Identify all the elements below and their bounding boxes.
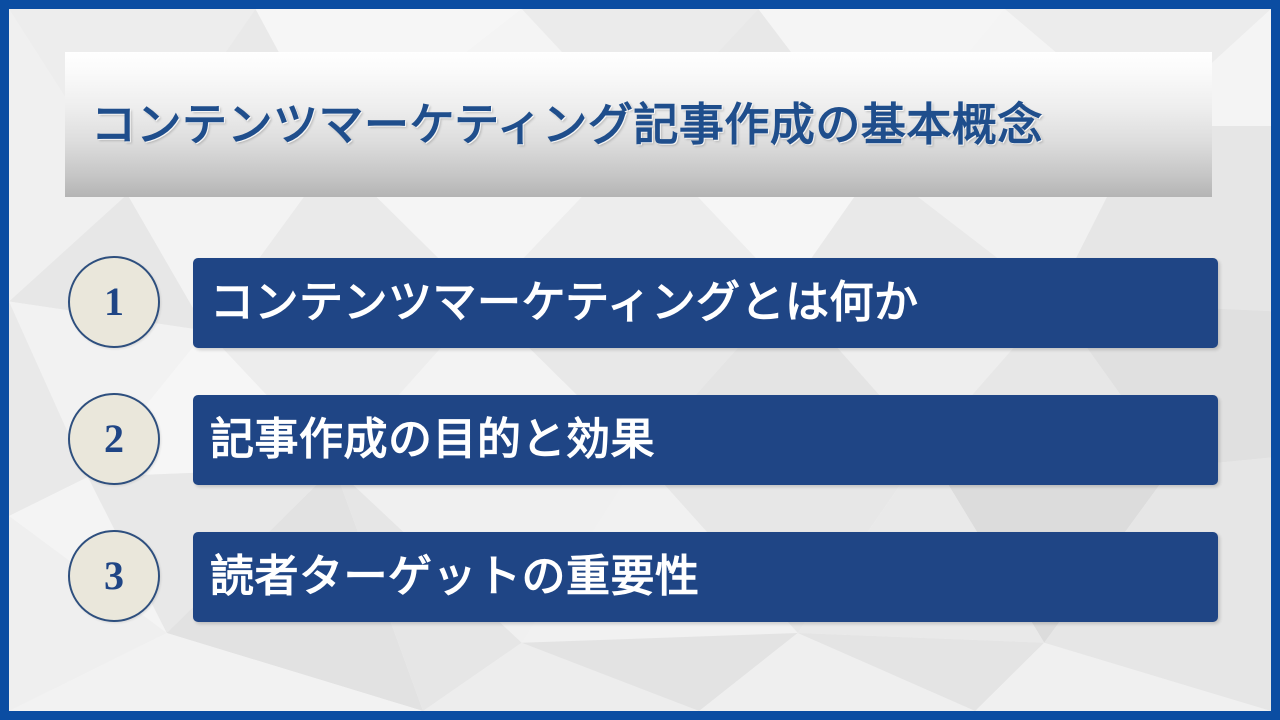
list-item[interactable]: 1 コンテンツマーケティングとは何か [9, 258, 1271, 348]
item-number-badge: 2 [68, 393, 160, 485]
item-label: 記事作成の目的と効果 [210, 417, 655, 463]
title-banner: コンテンツマーケティング記事作成の基本概念 [65, 52, 1212, 197]
item-number-label: 1 [104, 282, 124, 322]
item-bar[interactable]: 読者ターゲットの重要性 [193, 532, 1218, 622]
item-bar[interactable]: コンテンツマーケティングとは何か [193, 258, 1218, 348]
agenda-list: 1 コンテンツマーケティングとは何か 2 記事作成の目的と効果 3 読者ターゲッ… [9, 258, 1271, 669]
list-item[interactable]: 2 記事作成の目的と効果 [9, 395, 1271, 485]
item-label: コンテンツマーケティングとは何か [210, 280, 918, 326]
list-item[interactable]: 3 読者ターゲットの重要性 [9, 532, 1271, 622]
item-number-label: 3 [104, 556, 124, 596]
item-number-badge: 1 [68, 256, 160, 348]
item-number-badge: 3 [68, 530, 160, 622]
page-title: コンテンツマーケティング記事作成の基本概念 [91, 100, 1043, 150]
item-bar[interactable]: 記事作成の目的と効果 [193, 395, 1218, 485]
item-label: 読者ターゲットの重要性 [210, 554, 700, 600]
slide-canvas: コンテンツマーケティング記事作成の基本概念 1 コンテンツマーケティングとは何か… [0, 0, 1280, 720]
item-number-label: 2 [104, 419, 124, 459]
